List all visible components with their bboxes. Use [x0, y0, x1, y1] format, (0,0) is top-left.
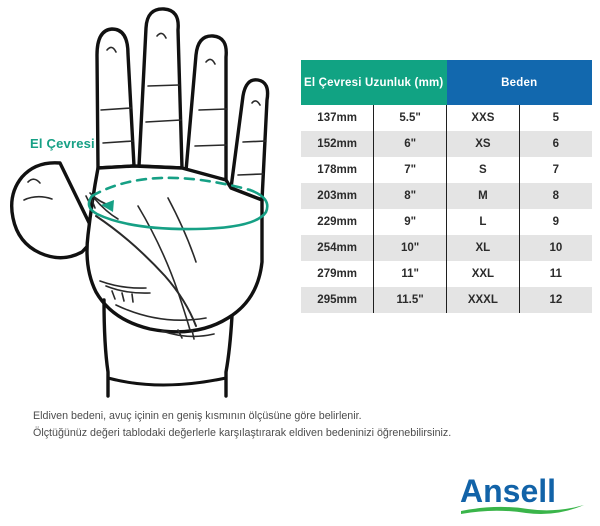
wrist-crease	[108, 378, 226, 385]
table-row: 137mm 5.5" XXS 5	[301, 105, 592, 131]
cell-size: XXXL	[447, 287, 520, 313]
ring-finger	[186, 36, 226, 180]
hand-circumference-label: El Çevresi	[30, 136, 95, 151]
cell-num: 9	[519, 209, 592, 235]
cell-num: 5	[519, 105, 592, 131]
little-finger	[231, 80, 268, 200]
cell-size: XXS	[447, 105, 520, 131]
size-table: El Çevresi Uzunluk (mm) Beden 137mm 5.5"…	[301, 60, 592, 313]
header-size: Beden	[447, 60, 593, 105]
ansell-wordmark: Ansell	[460, 473, 556, 509]
cell-mm: 152mm	[301, 131, 374, 157]
thumb	[12, 163, 96, 258]
table-row: 279mm 11" XXL 11	[301, 261, 592, 287]
cell-inch: 6"	[374, 131, 447, 157]
cell-inch: 8"	[374, 183, 447, 209]
glove-size-chart-page: El Çevresi El Çevresi Uzunluk (mm) Beden…	[0, 0, 600, 526]
cell-inch: 7"	[374, 157, 447, 183]
cell-inch: 10"	[374, 235, 447, 261]
cell-num: 10	[519, 235, 592, 261]
cell-inch: 5.5"	[374, 105, 447, 131]
ring-knuckle-line-2	[195, 145, 226, 146]
cell-size: XXL	[447, 261, 520, 287]
cell-mm: 178mm	[301, 157, 374, 183]
middle-knuckle-line-1	[148, 85, 179, 86]
table-row: 152mm 6" XS 6	[301, 131, 592, 157]
table-header-row: El Çevresi Uzunluk (mm) Beden	[301, 60, 592, 105]
cell-size: M	[447, 183, 520, 209]
hand-illustration	[0, 0, 300, 400]
cell-mm: 137mm	[301, 105, 374, 131]
footnote-line-1: Eldiven bedeni, avuç içinin en geniş kıs…	[33, 408, 573, 425]
cell-size: S	[447, 157, 520, 183]
ring-knuckle-line-1	[199, 109, 227, 110]
cell-num: 12	[519, 287, 592, 313]
footnote-line-2: Ölçtüğünüz değeri tablodaki değerlerle k…	[33, 425, 573, 442]
table-row: 295mm 11.5" XXXL 12	[301, 287, 592, 313]
cell-num: 8	[519, 183, 592, 209]
little-knuckle-line-1	[243, 141, 266, 142]
table-row: 229mm 9" L 9	[301, 209, 592, 235]
cell-size: XL	[447, 235, 520, 261]
little-knuckle-line-2	[238, 174, 263, 175]
cell-size: L	[447, 209, 520, 235]
cell-num: 7	[519, 157, 592, 183]
table-row: 178mm 7" S 7	[301, 157, 592, 183]
cell-mm: 203mm	[301, 183, 374, 209]
cell-mm: 279mm	[301, 261, 374, 287]
cell-num: 11	[519, 261, 592, 287]
header-hand-circumference: El Çevresi Uzunluk (mm)	[301, 60, 447, 105]
table-row: 203mm 8" M 8	[301, 183, 592, 209]
cell-inch: 11.5"	[374, 287, 447, 313]
cell-inch: 9"	[374, 209, 447, 235]
cell-mm: 229mm	[301, 209, 374, 235]
footnote: Eldiven bedeni, avuç içinin en geniş kıs…	[33, 408, 573, 442]
palm	[87, 166, 262, 332]
cell-size: XS	[447, 131, 520, 157]
cell-num: 6	[519, 131, 592, 157]
cell-mm: 254mm	[301, 235, 374, 261]
cell-mm: 295mm	[301, 287, 374, 313]
table-row: 254mm 10" XL 10	[301, 235, 592, 261]
cell-inch: 11"	[374, 261, 447, 287]
ansell-logo: Ansell	[458, 470, 588, 518]
